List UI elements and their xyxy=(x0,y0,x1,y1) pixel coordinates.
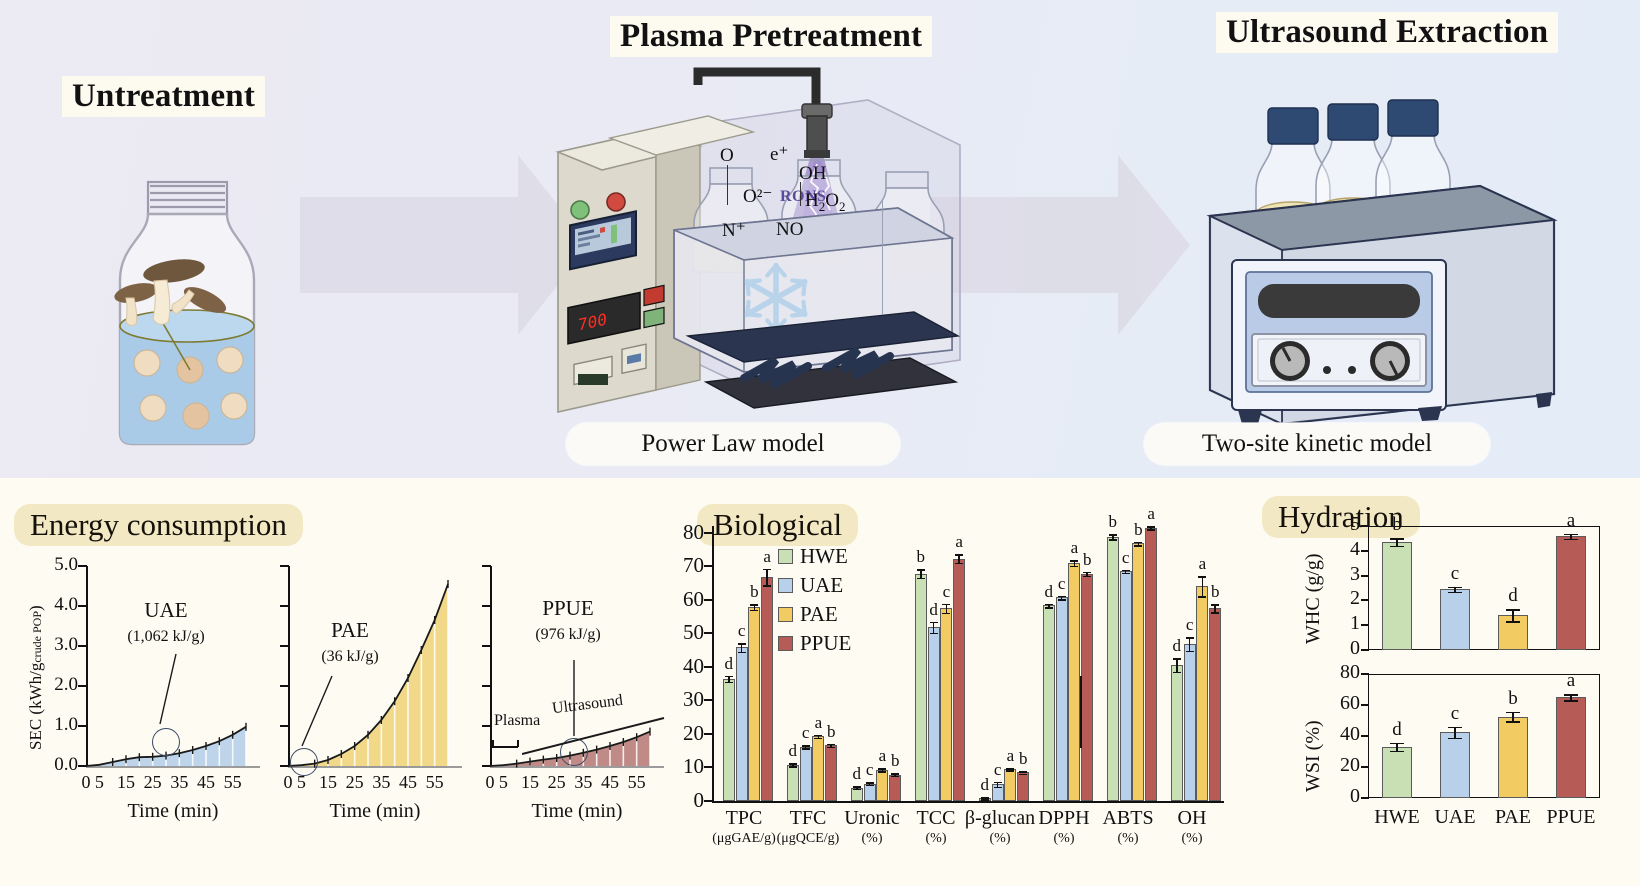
error-cap-bottom xyxy=(930,633,938,635)
section-title-energy: Energy consumption xyxy=(14,504,303,546)
hyd-y-tick-label: 0 xyxy=(1322,785,1360,808)
bio-y-tick-label: 70 xyxy=(660,553,704,578)
significance-letter: c xyxy=(1432,703,1478,725)
error-cap-bottom xyxy=(1122,573,1130,575)
hyd-category-label: HWE xyxy=(1366,806,1428,829)
bio-y-tick xyxy=(704,632,713,634)
error-cap-top xyxy=(1448,727,1462,729)
error-cap-bottom xyxy=(1019,774,1027,776)
error-cap-bottom xyxy=(942,613,950,615)
error-cap-bottom xyxy=(1134,545,1142,547)
x-axis-title: Time (min) xyxy=(480,800,674,823)
x-axis-title: Time (min) xyxy=(76,800,270,823)
error-cap-top xyxy=(763,569,771,571)
hyd-bar-wsi-PPUE xyxy=(1556,697,1586,798)
error-cap-top xyxy=(1173,658,1181,660)
hyd-y-tick xyxy=(1361,599,1369,601)
error-cap-top xyxy=(802,745,810,747)
bar-ABTS-PPUE xyxy=(1145,528,1157,801)
error-cap-top xyxy=(1564,694,1578,696)
section-title-biological: Biological xyxy=(697,504,858,546)
legend-swatch-HWE xyxy=(778,549,793,564)
significance-letter: b xyxy=(911,547,931,567)
legend-label-HWE: HWE xyxy=(800,544,848,569)
error-cap-top xyxy=(930,622,938,624)
bar-ABTS-PAE xyxy=(1132,543,1144,801)
legend-item-PAE: PAE xyxy=(778,602,851,627)
hyd-y-tick xyxy=(1361,575,1369,577)
significance-letter: a xyxy=(1141,504,1161,524)
hyd-y-tick xyxy=(1361,550,1369,552)
bio-y-tick xyxy=(704,565,713,567)
hyd-y-tick-label: 20 xyxy=(1322,754,1360,777)
bar-TFC-HWE xyxy=(787,765,799,801)
x-tick-label: 25 xyxy=(140,772,166,793)
significance-letter: a xyxy=(949,532,969,552)
legend-item-UAE: UAE xyxy=(778,573,851,598)
sec-annotation-title: PPUE xyxy=(528,596,608,621)
bar-DPPH-UAE xyxy=(1056,597,1068,801)
bio-y-tick-label: 80 xyxy=(660,520,704,545)
bio-y-tick xyxy=(704,532,713,534)
bar-ABTS-HWE xyxy=(1107,537,1119,801)
legend-swatch-PAE xyxy=(778,607,793,622)
error-cap-bottom xyxy=(1448,592,1462,594)
bio-y-tick xyxy=(704,733,713,735)
significance-letter: b xyxy=(821,722,841,742)
error-bar xyxy=(766,569,768,585)
ultrasound-bath-illustration xyxy=(1180,64,1600,444)
stage-title-untreatment: Untreatment xyxy=(62,76,265,117)
stage-title-ultrasound: Ultrasound Extraction xyxy=(1216,12,1558,53)
x-tick-label: 5 xyxy=(86,772,112,793)
process-overview-panel: Untreatment xyxy=(0,0,1640,478)
error-cap-top xyxy=(917,569,925,571)
y-tick-label: 0.0 xyxy=(28,754,78,776)
error-bar xyxy=(1454,727,1456,738)
hyd-y-tick-label: 60 xyxy=(1322,692,1360,715)
hyd-category-label: PAE xyxy=(1482,806,1544,829)
y-tick-label: 4.0 xyxy=(28,594,78,616)
sec-callout-circle xyxy=(290,748,318,776)
stage-title-plasma: Plasma Pretreatment xyxy=(610,16,932,57)
bar-TCC-UAE xyxy=(928,627,940,801)
species-leader-4 xyxy=(882,200,883,315)
hyd-y-tick-label: 40 xyxy=(1322,723,1360,746)
hyd-y-tick-label: 4 xyxy=(1322,538,1360,561)
significance-letter: b xyxy=(1103,512,1123,532)
sec-callout-circle xyxy=(152,728,180,756)
x-tick-label: 55 xyxy=(422,772,448,793)
bio-legend: HWEUAEPAEPPUE xyxy=(778,544,851,660)
x-tick-label: 45 xyxy=(597,772,623,793)
error-cap-bottom xyxy=(1390,546,1404,548)
significance-letter: b xyxy=(885,751,905,771)
plasma-device-illustration: 700 xyxy=(548,60,968,425)
hyd-y-tick xyxy=(1361,735,1369,737)
error-bar xyxy=(1512,609,1514,621)
error-cap-bottom xyxy=(1448,738,1462,740)
legend-label-PAE: PAE xyxy=(800,602,838,627)
x-tick-label: 15 xyxy=(113,772,139,793)
significance-letter: b xyxy=(1205,582,1225,602)
error-cap-bottom xyxy=(1390,751,1404,753)
hyd-y-tick-label: 1 xyxy=(1322,612,1360,635)
phase-bracket-l xyxy=(492,740,494,747)
error-cap-top xyxy=(955,554,963,556)
hyd-y-tick-label: 2 xyxy=(1322,587,1360,610)
significance-letter: a xyxy=(757,547,777,567)
control-knob-right xyxy=(1370,341,1410,381)
y-tick-label: 3.0 xyxy=(28,634,78,656)
bio-category-unit: (%) xyxy=(1148,831,1236,847)
hyd-y-tick-label: 3 xyxy=(1322,563,1360,586)
x-tick-label: 55 xyxy=(624,772,650,793)
bio-category-label: OH xyxy=(1148,807,1236,830)
hyd-bar-whc-PPUE xyxy=(1556,536,1586,650)
bar-β-glucan-PAE xyxy=(1004,769,1016,801)
hyd-y-tick xyxy=(1361,704,1369,706)
phase-bracket xyxy=(492,746,518,748)
bar-β-glucan-PPUE xyxy=(1017,772,1029,801)
error-cap-top xyxy=(725,676,733,678)
legend-label-UAE: UAE xyxy=(800,573,843,598)
error-cap-bottom xyxy=(866,785,874,787)
error-cap-top xyxy=(1506,609,1520,611)
error-cap-bottom xyxy=(738,652,746,654)
hyd-y-tick xyxy=(1361,673,1369,675)
hyd-category-label: PPUE xyxy=(1540,806,1602,829)
error-cap-bottom xyxy=(955,563,963,565)
error-cap-bottom xyxy=(827,747,835,749)
error-bar xyxy=(1176,658,1178,671)
significance-letter: b xyxy=(1374,514,1420,536)
error-cap-bottom xyxy=(1211,612,1219,614)
axis-break-mark xyxy=(1080,676,1082,748)
error-cap-top xyxy=(827,744,835,746)
error-cap-bottom xyxy=(1506,721,1520,723)
error-cap-bottom xyxy=(1109,539,1117,541)
hyd-y-tick xyxy=(1361,624,1369,626)
bio-y-tick xyxy=(704,599,713,601)
bio-y-tick-label: 0 xyxy=(660,788,704,813)
bar-OH-PPUE xyxy=(1209,608,1221,801)
phase-divider xyxy=(522,716,672,760)
species-leader-2 xyxy=(800,182,801,206)
error-bar xyxy=(1202,576,1204,596)
bar-DPPH-PPUE xyxy=(1081,574,1093,801)
legend-swatch-PPUE xyxy=(778,636,793,651)
hyd-y-tick xyxy=(1361,649,1369,651)
caption-power-law-model: Power Law model xyxy=(566,423,900,465)
untreatment-jar-illustration xyxy=(62,148,312,448)
error-cap-top xyxy=(1186,637,1194,639)
sec-annotation-value: (976 kJ/g) xyxy=(522,626,614,644)
legend-item-PPUE: PPUE xyxy=(778,631,851,656)
y-tick-label: 5.0 xyxy=(28,554,78,576)
significance-letter: a xyxy=(1548,510,1594,532)
hyd-bar-wsi-HWE xyxy=(1382,747,1412,798)
hyd-category-label: UAE xyxy=(1424,806,1486,829)
error-cap-top xyxy=(866,782,874,784)
hyd-y-axis-title: WHC (g/g) xyxy=(1302,553,1325,644)
error-cap-top xyxy=(738,643,746,645)
error-cap-top xyxy=(1147,526,1155,528)
error-cap-bottom xyxy=(1173,672,1181,674)
significance-letter: b xyxy=(1490,688,1536,710)
error-cap-top xyxy=(1506,712,1520,714)
bar-TFC-UAE xyxy=(800,747,812,801)
error-cap-top xyxy=(1058,596,1066,598)
error-cap-bottom xyxy=(1186,651,1194,653)
flow-arrow-2 xyxy=(930,155,1190,335)
bar-TPC-PPUE xyxy=(761,577,773,801)
bio-y-tick-label: 10 xyxy=(660,754,704,779)
species-label-H2O2: H2O2 xyxy=(805,190,845,215)
legend-label-PPUE: PPUE xyxy=(800,631,851,656)
bio-y-tick-label: 40 xyxy=(660,654,704,679)
species-leader-1 xyxy=(727,165,728,205)
significance-letter: d xyxy=(1374,719,1420,741)
sec-annotation-value: (36 kJ/g) xyxy=(304,648,396,666)
significance-letter: b xyxy=(1013,749,1033,769)
x-tick-label: 15 xyxy=(517,772,543,793)
x-tick-label: 35 xyxy=(570,772,596,793)
error-cap-top xyxy=(1045,604,1053,606)
hyd-bar-wsi-PAE xyxy=(1498,717,1528,798)
error-cap-bottom xyxy=(994,787,1002,789)
error-cap-bottom xyxy=(789,766,797,768)
bar-TPC-UAE xyxy=(736,647,748,801)
error-cap-top xyxy=(1390,743,1404,745)
species-label-OH: OH xyxy=(799,163,826,185)
x-tick-label: 5 xyxy=(490,772,516,793)
error-cap-bottom xyxy=(981,799,989,801)
bio-x-axis xyxy=(712,801,1224,803)
bar-OH-UAE xyxy=(1184,644,1196,801)
bio-y-tick-label: 60 xyxy=(660,587,704,612)
legend-swatch-UAE xyxy=(778,578,793,593)
flow-arrow-1 xyxy=(300,155,590,335)
error-cap-top xyxy=(789,763,797,765)
sec-annotation-title: PAE xyxy=(310,618,390,643)
hyd-bar-whc-HWE xyxy=(1382,542,1412,650)
error-cap-top xyxy=(994,782,1002,784)
error-cap-top xyxy=(853,786,861,788)
error-cap-bottom xyxy=(1506,621,1520,623)
phase-bracket-r xyxy=(517,740,519,747)
caption-two-site-kinetic-model: Two-site kinetic model xyxy=(1144,423,1490,465)
significance-letter: a xyxy=(1548,670,1594,692)
bar-DPPH-PAE xyxy=(1068,563,1080,801)
error-cap-top xyxy=(1198,576,1206,578)
error-cap-top xyxy=(942,604,950,606)
hyd-y-tick-label: 0 xyxy=(1322,637,1360,660)
x-axis-title: Time (min) xyxy=(278,800,472,823)
bar-OH-HWE xyxy=(1171,665,1183,801)
hyd-y-axis-title: WSI (%) xyxy=(1302,720,1325,792)
x-tick-label: 15 xyxy=(315,772,341,793)
bio-y-tick xyxy=(704,699,713,701)
error-cap-bottom xyxy=(891,776,899,778)
bio-y-axis xyxy=(712,526,714,801)
bio-y-tick xyxy=(704,800,713,802)
error-cap-top xyxy=(1134,542,1142,544)
significance-letter: b xyxy=(1077,550,1097,570)
species-label-NO: NO xyxy=(776,219,803,241)
x-tick-label: 25 xyxy=(544,772,570,793)
species-label-e-plus: e⁺ xyxy=(770,143,788,166)
error-cap-bottom xyxy=(725,682,733,684)
significance-letter: c xyxy=(1432,563,1478,585)
hyd-y-tick-label: 5 xyxy=(1322,513,1360,536)
bar-TCC-PAE xyxy=(940,608,952,801)
bar-TFC-PPUE xyxy=(825,745,837,801)
control-knob-left xyxy=(1270,341,1310,381)
significance-letter: a xyxy=(1192,554,1212,574)
error-cap-top xyxy=(1211,604,1219,606)
error-cap-bottom xyxy=(1083,576,1091,578)
error-cap-bottom xyxy=(1045,607,1053,609)
species-label-N-plus: N⁺ xyxy=(722,219,746,242)
x-tick-label: 35 xyxy=(368,772,394,793)
y-tick-label: 2.0 xyxy=(28,674,78,696)
error-cap-top xyxy=(1109,534,1117,536)
bar-TFC-PAE xyxy=(812,736,824,801)
bar-TCC-PPUE xyxy=(953,559,965,801)
error-cap-bottom xyxy=(1147,529,1155,531)
error-cap-bottom xyxy=(1564,700,1578,702)
error-cap-bottom xyxy=(917,578,925,580)
error-cap-top xyxy=(1122,570,1130,572)
legend-item-HWE: HWE xyxy=(778,544,851,569)
error-cap-top xyxy=(750,604,758,606)
significance-letter: d xyxy=(1490,585,1536,607)
sec-annotation-value: (1,062 kJ/g) xyxy=(120,628,212,646)
error-cap-bottom xyxy=(750,610,758,612)
bio-y-tick-label: 50 xyxy=(660,620,704,645)
hyd-bar-wsi-UAE xyxy=(1440,732,1470,798)
x-tick-label: 25 xyxy=(342,772,368,793)
error-bar xyxy=(1189,637,1191,650)
error-bar xyxy=(933,622,935,633)
hyd-y-tick xyxy=(1361,797,1369,799)
error-cap-top xyxy=(1564,534,1578,536)
bar-OH-PAE xyxy=(1196,586,1208,801)
species-label-O: O xyxy=(720,145,734,167)
x-tick-label: 45 xyxy=(193,772,219,793)
bar-TPC-HWE xyxy=(723,679,735,801)
species-label-O2-minus: O²⁻ xyxy=(743,185,772,208)
error-cap-top xyxy=(891,773,899,775)
bar-Uronic-PAE xyxy=(876,770,888,801)
error-cap-top xyxy=(1448,587,1462,589)
hyd-y-tick xyxy=(1361,766,1369,768)
error-cap-bottom xyxy=(1564,539,1578,541)
bar-ABTS-UAE xyxy=(1120,571,1132,801)
error-cap-top xyxy=(1390,538,1404,540)
bio-y-tick-label: 20 xyxy=(660,721,704,746)
hyd-bar-whc-UAE xyxy=(1440,589,1470,650)
sec-area-sec-pae xyxy=(288,566,464,768)
error-cap-bottom xyxy=(853,789,861,791)
hyd-y-tick-label: 80 xyxy=(1322,661,1360,684)
x-tick-label: 35 xyxy=(166,772,192,793)
bio-y-tick xyxy=(704,666,713,668)
results-panel: Energy consumption SEC (kWh/gcrude POP) … xyxy=(0,478,1640,886)
error-cap-bottom xyxy=(763,585,771,587)
error-cap-bottom xyxy=(1006,770,1014,772)
bio-y-tick xyxy=(704,766,713,768)
bar-DPPH-HWE xyxy=(1043,605,1055,801)
sec-annotation-title: UAE xyxy=(126,598,206,623)
y-tick-label: 1.0 xyxy=(28,714,78,736)
error-cap-bottom xyxy=(878,771,886,773)
hyd-y-tick xyxy=(1361,525,1369,527)
bar-TPC-PAE xyxy=(748,607,760,801)
bio-y-tick-label: 30 xyxy=(660,687,704,712)
x-tick-label: 55 xyxy=(220,772,246,793)
error-cap-top xyxy=(1083,572,1091,574)
bar-Uronic-PPUE xyxy=(889,775,901,801)
error-cap-bottom xyxy=(802,748,810,750)
x-tick-label: 45 xyxy=(395,772,421,793)
error-cap-bottom xyxy=(1058,599,1066,601)
